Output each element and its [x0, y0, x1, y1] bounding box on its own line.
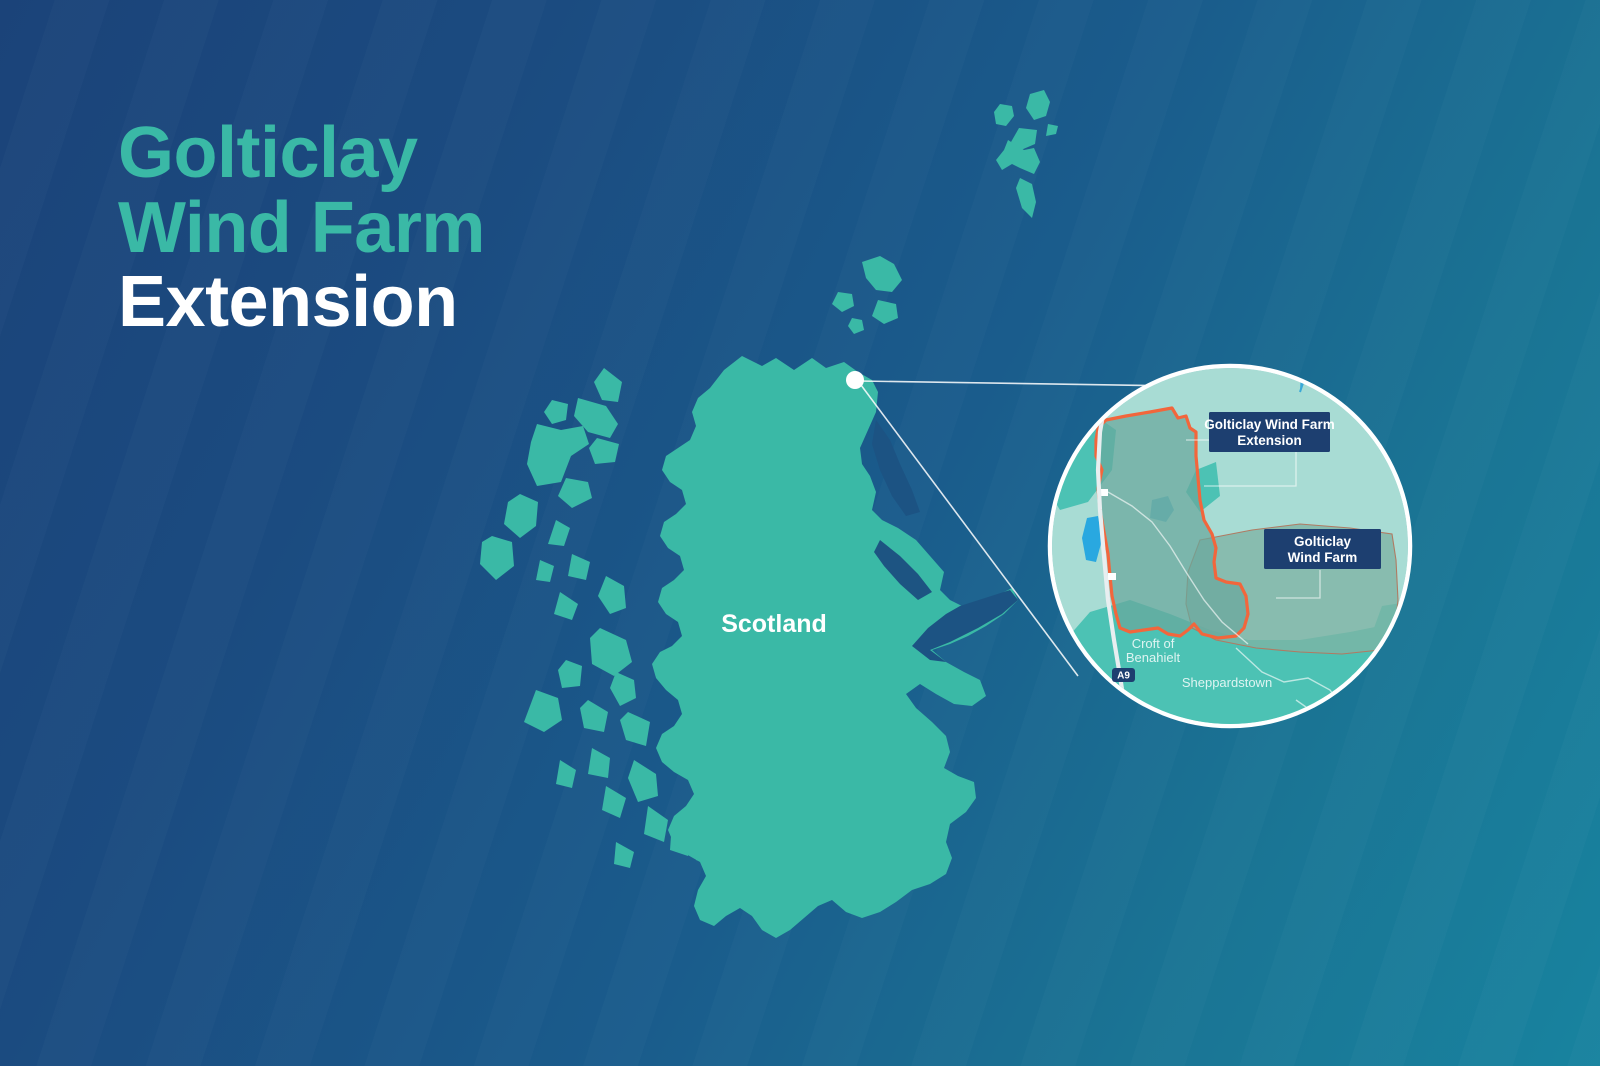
- place-croft-line2: Benahielt: [1126, 650, 1181, 665]
- callout-windfarm[interactable]: Golticlay Wind Farm: [1264, 529, 1381, 569]
- road-badge-a9: A9: [1112, 668, 1135, 682]
- place-label-croft: Croft of Benahielt: [1126, 636, 1181, 665]
- callout-extension[interactable]: Golticlay Wind Farm Extension: [1204, 412, 1334, 452]
- boundary-node-2: [1108, 573, 1116, 580]
- callout-extension-line1: Golticlay Wind Farm: [1204, 417, 1334, 432]
- poster-canvas: Golticlay Wind Farm Extension: [0, 0, 1600, 1066]
- callout-windfarm-line1: Golticlay: [1294, 534, 1352, 549]
- place-croft-line1: Croft of: [1132, 636, 1175, 651]
- inset-detail-map[interactable]: Golticlay Wind Farm Extension Golticlay …: [0, 0, 1600, 1066]
- callout-extension-line2: Extension: [1237, 433, 1302, 448]
- road-badge-a9-label: A9: [1117, 671, 1130, 682]
- place-sheppardstown: Sheppardstown: [1182, 675, 1272, 690]
- callout-windfarm-line2: Wind Farm: [1288, 550, 1358, 565]
